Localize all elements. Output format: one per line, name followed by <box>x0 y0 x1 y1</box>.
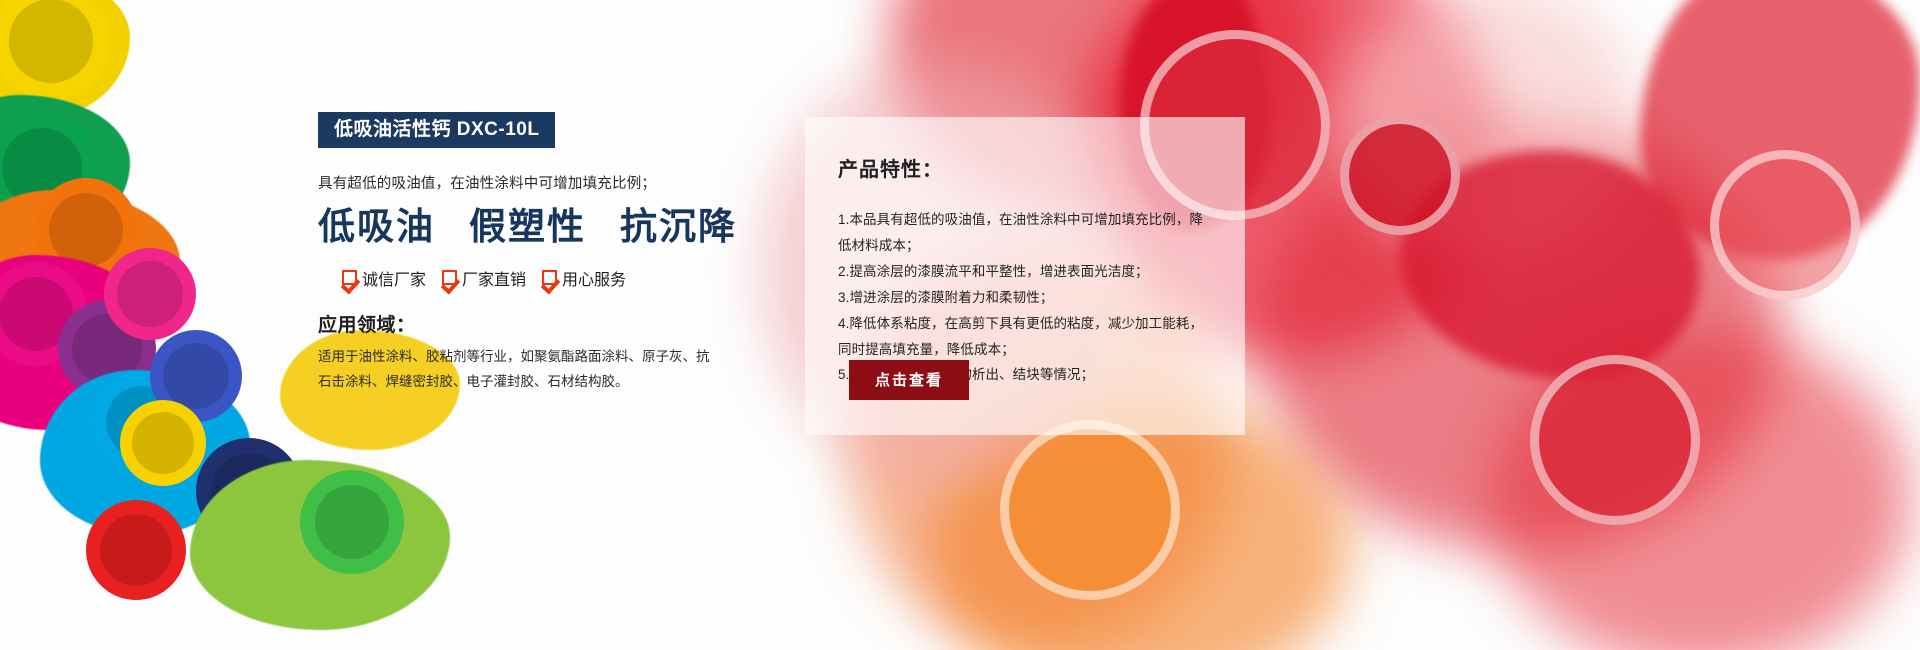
paint-pot-lightgreen <box>300 470 404 574</box>
paint-pot-magenta <box>0 262 88 366</box>
checkbox-checked-icon <box>342 270 357 285</box>
feature-list-item: 4.降低体系粘度，在高剪下具有更低的粘度，减少加工能耗，同时提高填充量，降低成本… <box>838 311 1215 363</box>
product-title-badge: 低吸油活性钙 DXC-10L <box>318 112 555 148</box>
paint-pot-green <box>0 112 98 224</box>
paint-pot-pink <box>104 248 196 340</box>
paint-dish-5 <box>1710 150 1860 300</box>
product-features-panel: 产品特性： 1.本品具有超低的吸油值，在油性涂料中可增加填充比例，降低材料成本；… <box>805 117 1245 435</box>
paint-smear-cyan <box>40 370 250 535</box>
application-description: 适用于油性涂料、胶粘剂等行业，如聚氨酯路面涂料、原子灰、抗石击涂料、焊缝密封胶、… <box>318 345 710 395</box>
feature-tag-1: 诚信厂家 <box>342 266 426 290</box>
headline-word-3: 抗沉降 <box>620 209 737 248</box>
paint-smear-green <box>0 95 130 245</box>
view-details-button[interactable]: 点击查看 <box>849 360 969 400</box>
headline-word-2: 假塑性 <box>469 209 586 248</box>
paint-pot-yellow2 <box>120 400 206 486</box>
red-streak-3 <box>1640 0 1920 260</box>
paint-dish-4 <box>1000 420 1180 600</box>
checkbox-checked-icon <box>542 270 557 285</box>
feature-tag-2: 厂家直销 <box>442 266 526 290</box>
paint-dish-2 <box>1340 115 1460 235</box>
left-content-block: 低吸油活性钙 DXC-10L 具有超低的吸油值，在油性涂料中可增加填充比例； 低… <box>318 112 738 395</box>
feature-list-item: 3.增进涂层的漆膜附着力和柔韧性； <box>838 285 1215 311</box>
feature-tag-1-label: 诚信厂家 <box>362 266 426 290</box>
orange-wash <box>930 400 1350 650</box>
paint-dish-3 <box>1530 355 1700 525</box>
feature-tag-list: 诚信厂家 厂家直销 用心服务 <box>318 266 738 290</box>
features-panel-title: 产品特性： <box>838 153 1215 182</box>
checkbox-checked-icon <box>442 270 457 285</box>
paint-pot-red <box>86 500 186 600</box>
application-section-title: 应用领域： <box>318 310 738 337</box>
paint-pot-navy <box>196 438 302 544</box>
headline-keywords: 低吸油 假塑性 抗沉降 <box>318 209 738 248</box>
product-subtitle: 具有超低的吸油值，在油性涂料中可增加填充比例； <box>318 172 738 193</box>
paint-pot-yellow <box>0 0 110 100</box>
paint-smear-yellow <box>0 0 130 120</box>
red-wash-5 <box>1490 330 1910 650</box>
feature-tag-3-label: 用心服务 <box>562 266 626 290</box>
paint-smear-lime <box>190 460 450 630</box>
feature-list-item: 1.本品具有超低的吸油值，在油性涂料中可增加填充比例，降低材料成本； <box>838 207 1215 259</box>
feature-list-item: 2.提高涂层的漆膜流平和平整性，增进表面光洁度； <box>838 259 1215 285</box>
red-streak-2 <box>1400 150 1700 380</box>
paint-pot-orange <box>34 178 138 282</box>
paint-pot-blue <box>150 330 242 422</box>
paint-smear-magenta <box>0 255 155 430</box>
headline-word-1: 低吸油 <box>318 209 435 248</box>
feature-tag-3: 用心服务 <box>542 266 626 290</box>
feature-tag-2-label: 厂家直销 <box>462 266 526 290</box>
pink-wash-2 <box>1340 0 1640 260</box>
paint-pot-cyan <box>92 372 192 472</box>
paint-pot-purple <box>58 300 156 398</box>
paint-smear-orange <box>0 190 180 350</box>
red-wash-3 <box>1260 120 1780 550</box>
product-banner: 低吸油活性钙 DXC-10L 具有超低的吸油值，在油性涂料中可增加填充比例； 低… <box>0 0 1920 650</box>
